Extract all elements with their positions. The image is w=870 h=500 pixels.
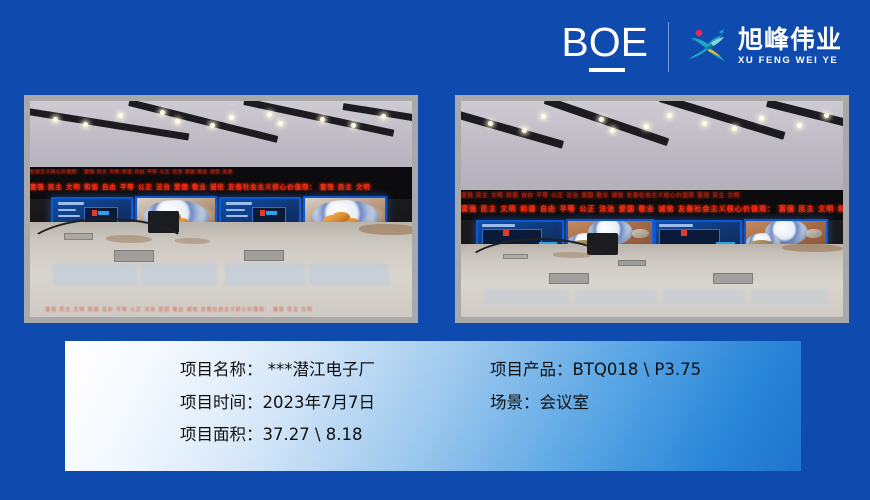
project-info-column-right: 项目产品：BTQ018 \ P3.75 场景：会议室 <box>490 360 801 446</box>
photo-image-right: 富强 民主 文明 和谐 自由 平等 公正 法治 爱国 敬业 诚信 友善社会主义核… <box>461 101 843 317</box>
led-ticker-line-1-right: 富强 民主 文明 和谐 自由 平等 公正 法治 爱国 敬业 诚信 友善社会主义核… <box>461 191 843 199</box>
logo-divider <box>668 22 669 72</box>
floor-ticker-reflection-left: 富强 民主 文明 和谐 自由 平等 公正 法治 爱国 敬业 诚信 友善社会主义核… <box>45 306 396 313</box>
ceiling-right <box>461 101 843 192</box>
brand-logo-lockup: BOE 旭峰伟业 XU FENG WEI YE <box>561 18 842 76</box>
boe-wordmark-text: BOE <box>561 22 648 63</box>
boe-logo: BOE <box>561 22 650 72</box>
project-product-line: 项目产品：BTQ018 \ P3.75 <box>490 360 801 381</box>
partner-name-block: 旭峰伟业 XU FENG WEI YE <box>738 27 842 67</box>
led-ticker-right: 富强 民主 文明 和谐 自由 平等 公正 法治 爱国 敬业 诚信 友善社会主义核… <box>461 190 843 220</box>
project-photo-right: 富强 民主 文明 和谐 自由 平等 公正 法治 爱国 敬业 诚信 友善社会主义核… <box>455 95 849 323</box>
led-ticker-line-1-left: 社会主义核心价值观： 富强 民主 文明 和谐 自由 平等 公正 法治 爱国 敬业… <box>30 169 412 175</box>
photo-image-left: 社会主义核心价值观： 富强 民主 文明 和谐 自由 平等 公正 法治 爱国 敬业… <box>30 101 412 317</box>
partner-logo: 旭峰伟业 XU FENG WEI YE <box>685 25 842 69</box>
project-date-line: 项目时间：2023年7月7日 <box>180 393 490 414</box>
project-scene-line: 场景：会议室 <box>490 393 801 414</box>
floor-right <box>461 244 843 317</box>
partner-name-cn: 旭峰伟业 <box>738 27 842 53</box>
project-info-band: 项目名称： ***潜江电子厂 项目时间：2023年7月7日 项目面积：37.27… <box>65 341 801 471</box>
floor-left: 富强 民主 文明 和谐 自由 平等 公正 法治 爱国 敬业 诚信 友善社会主义核… <box>30 222 412 317</box>
project-info-grid: 项目名称： ***潜江电子厂 项目时间：2023年7月7日 项目面积：37.27… <box>65 341 801 471</box>
project-photo-left: 社会主义核心价值观： 富强 民主 文明 和谐 自由 平等 公正 法治 爱国 敬业… <box>24 95 418 323</box>
project-name-line: 项目名称： ***潜江电子厂 <box>180 360 490 381</box>
led-ticker-line-2-right: 富强 民主 文明 和谐 自由 平等 公正 法治 爱国 敬业 诚信 友善社会主义核… <box>461 204 843 214</box>
project-info-column-left: 项目名称： ***潜江电子厂 项目时间：2023年7月7日 项目面积：37.27… <box>180 360 490 446</box>
project-area-line: 项目面积：37.27 \ 8.18 <box>180 425 490 446</box>
bird-mark-icon <box>685 25 729 69</box>
slide-root: BOE 旭峰伟业 XU FENG WEI YE <box>0 0 870 500</box>
led-ticker-line-2-left: 富强 民主 文明 和谐 自由 平等 公正 法治 爱国 敬业 诚信 友善社会主义核… <box>30 182 412 191</box>
boe-underline-bar <box>589 68 625 72</box>
led-ticker-left: 社会主义核心价值观： 富强 民主 文明 和谐 自由 平等 公正 法治 爱国 敬业… <box>30 167 412 199</box>
partner-name-en: XU FENG WEI YE <box>738 56 842 66</box>
